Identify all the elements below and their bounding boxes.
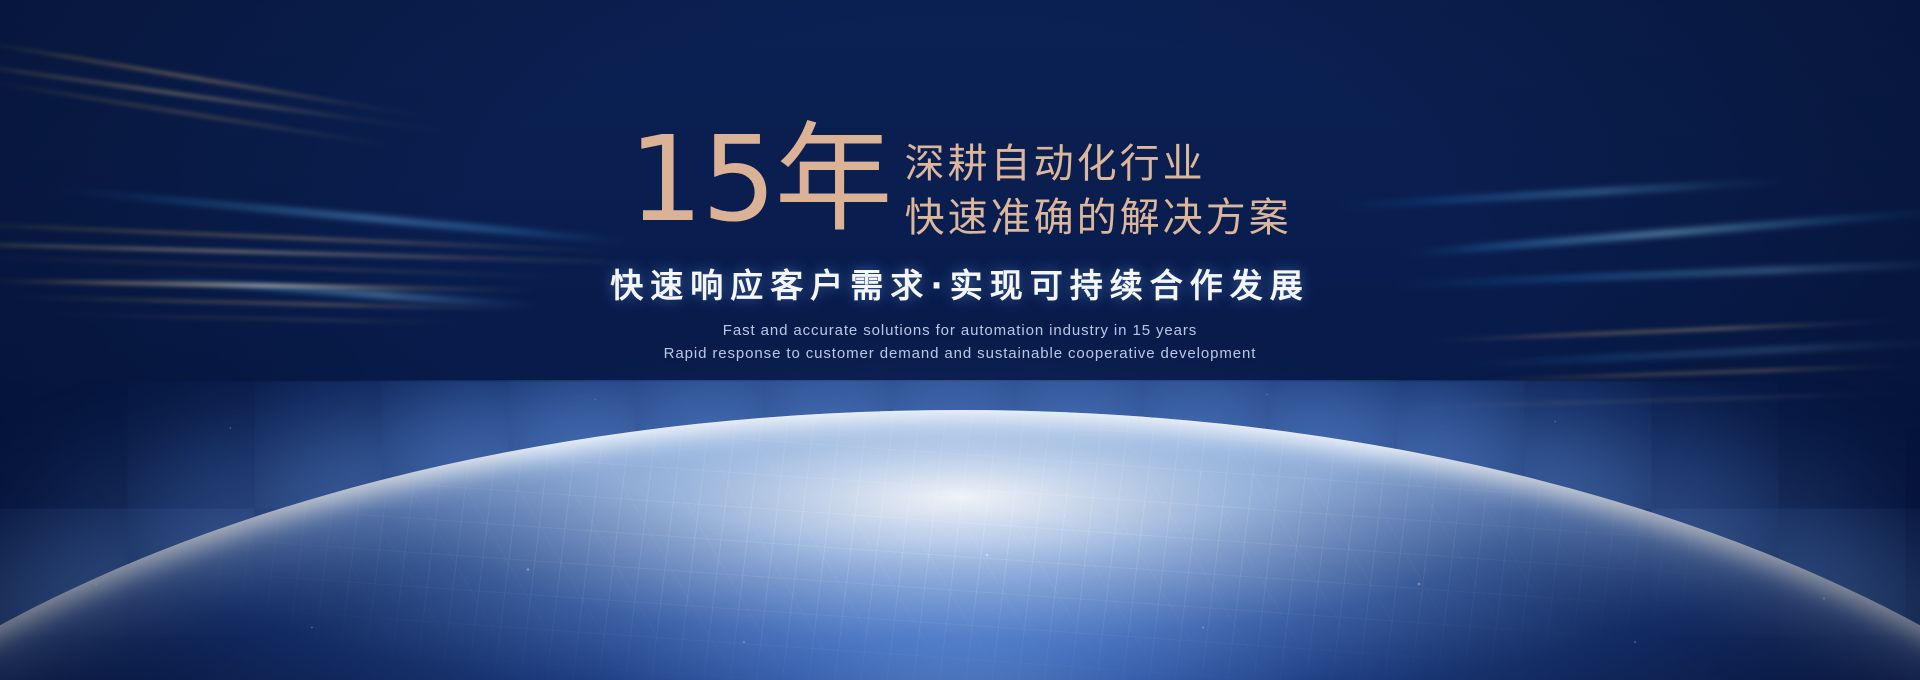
english-line-1: Fast and accurate solutions for automati… <box>664 319 1257 342</box>
hero-content: 15年 深耕自动化行业 快速准确的解决方案 快速响应客户需求·实现可持续合作发展… <box>0 0 1920 366</box>
english-line-2: Rapid response to customer demand and su… <box>664 342 1257 365</box>
hero-banner: 15年 深耕自动化行业 快速准确的解决方案 快速响应客户需求·实现可持续合作发展… <box>0 0 1920 680</box>
headline-row: 15年 深耕自动化行业 快速准确的解决方案 <box>628 128 1291 245</box>
headline-line-2: 快速准确的解决方案 <box>905 192 1292 246</box>
earth-atmosphere-glow <box>260 380 1660 680</box>
headline-line-1: 深耕自动化行业 <box>905 138 1292 192</box>
earth-city-grid <box>0 410 1920 680</box>
years-number: 15年 <box>628 122 890 238</box>
subtitle-text: 快速响应客户需求·实现可持续合作发展 <box>610 259 1310 307</box>
gold-streak-icon <box>1480 364 1910 381</box>
star-specks-icon <box>0 380 1920 540</box>
headline-lines: 深耕自动化行业 快速准确的解决方案 <box>905 138 1292 245</box>
earth-city-lights-icon <box>0 410 1920 680</box>
earth-sphere <box>0 410 1920 680</box>
earth-rim-highlight <box>0 410 1920 680</box>
gold-streak-icon <box>1390 393 1910 409</box>
english-tagline-group: Fast and accurate solutions for automati… <box>664 319 1257 366</box>
earth-horizon <box>0 380 1920 680</box>
